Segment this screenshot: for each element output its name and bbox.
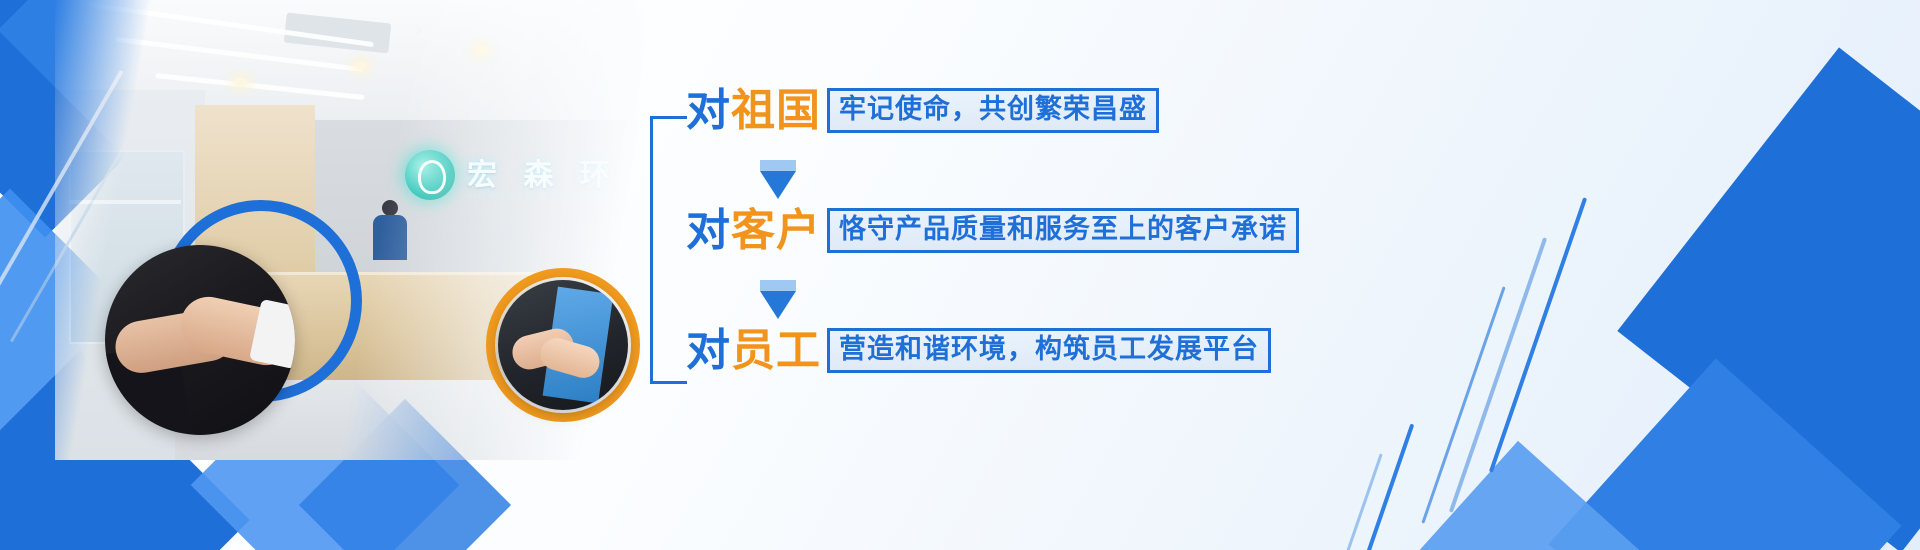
spot-light	[475, 46, 487, 54]
slogan-prefix-1: 对	[686, 86, 731, 135]
staff-person	[373, 200, 407, 260]
arrow-band	[760, 280, 796, 291]
decorative-stripe-right-3	[1421, 286, 1505, 523]
decorative-diamond-right-large	[1617, 47, 1920, 550]
decorative-stripe-right-1	[1489, 197, 1587, 473]
slogan-row-2: 对客户 恪守产品质量和服务至上的客户承诺	[686, 208, 1299, 253]
slogan-heading-1: 对祖国	[686, 89, 821, 133]
slogan-tag-3: 营造和谐环境，构筑员工发展平台	[827, 328, 1271, 373]
glass-partition-bar	[69, 200, 181, 204]
slogan-prefix-2: 对	[686, 206, 731, 255]
staff-body	[373, 215, 407, 260]
company-logo-subtext: HONGSEN ENVIRONMENT	[469, 191, 641, 201]
slogan-keyword-1: 祖国	[731, 86, 821, 135]
decorative-stripe-right-2	[1449, 237, 1547, 513]
decorative-stripe-right-5	[1334, 453, 1382, 550]
slogan-tag-2: 恪守产品质量和服务至上的客户承诺	[827, 208, 1299, 253]
decorative-diamond-right-mid	[1548, 358, 1901, 550]
applause-photo-bubble	[498, 280, 628, 410]
decorative-stripe-right-4	[1362, 423, 1415, 550]
spot-light	[235, 78, 247, 86]
slogan-prefix-3: 对	[686, 326, 731, 375]
arrow-triangle	[760, 291, 796, 319]
decorative-diamond-right-small	[1391, 441, 1659, 550]
slogan-tag-1: 牢记使命，共创繁荣昌盛	[827, 88, 1159, 133]
spot-light	[355, 62, 367, 70]
arrow-band	[760, 160, 796, 171]
slogan-list: 对祖国 牢记使命，共创繁荣昌盛 对客户 恪守产品质量和服务至上的客户承诺 对员工…	[650, 78, 1350, 408]
slogan-heading-2: 对客户	[686, 209, 821, 253]
arrow-triangle	[760, 171, 796, 199]
staff-head	[382, 200, 398, 216]
company-logo-text: 宏 森 环 保	[467, 150, 675, 194]
handshake-photo-bubble	[105, 245, 295, 435]
bracket-connector	[650, 116, 687, 384]
company-emblem-icon	[405, 150, 455, 200]
slogan-row-1: 对祖国 牢记使命，共创繁荣昌盛	[686, 88, 1159, 133]
slogan-keyword-3: 员工	[731, 326, 821, 375]
slogan-row-3: 对员工 营造和谐环境，构筑员工发展平台	[686, 328, 1271, 373]
company-culture-banner: 宏 森 环 保 HONGSEN ENVIRONMENT	[0, 0, 1920, 550]
slogan-keyword-2: 客户	[731, 206, 821, 255]
slogan-heading-3: 对员工	[686, 329, 821, 373]
